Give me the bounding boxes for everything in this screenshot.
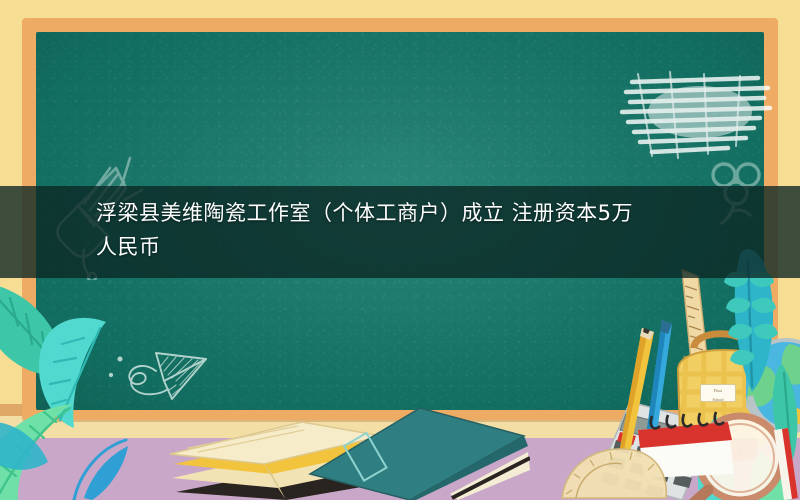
protractor — [560, 440, 670, 500]
leaf-cluster-left — [0, 262, 188, 500]
book-teal — [300, 398, 530, 500]
headline-text: 浮梁县美维陶瓷工作室（个体工商户）成立 注册资本5万 人民币 — [96, 196, 716, 264]
headline-line-2: 人民币 — [96, 230, 716, 264]
news-card: 64 Flora School — [0, 0, 800, 500]
headline-line-1: 浮梁县美维陶瓷工作室（个体工商户）成立 注册资本5万 — [96, 196, 716, 230]
pencil-white — [764, 428, 800, 500]
